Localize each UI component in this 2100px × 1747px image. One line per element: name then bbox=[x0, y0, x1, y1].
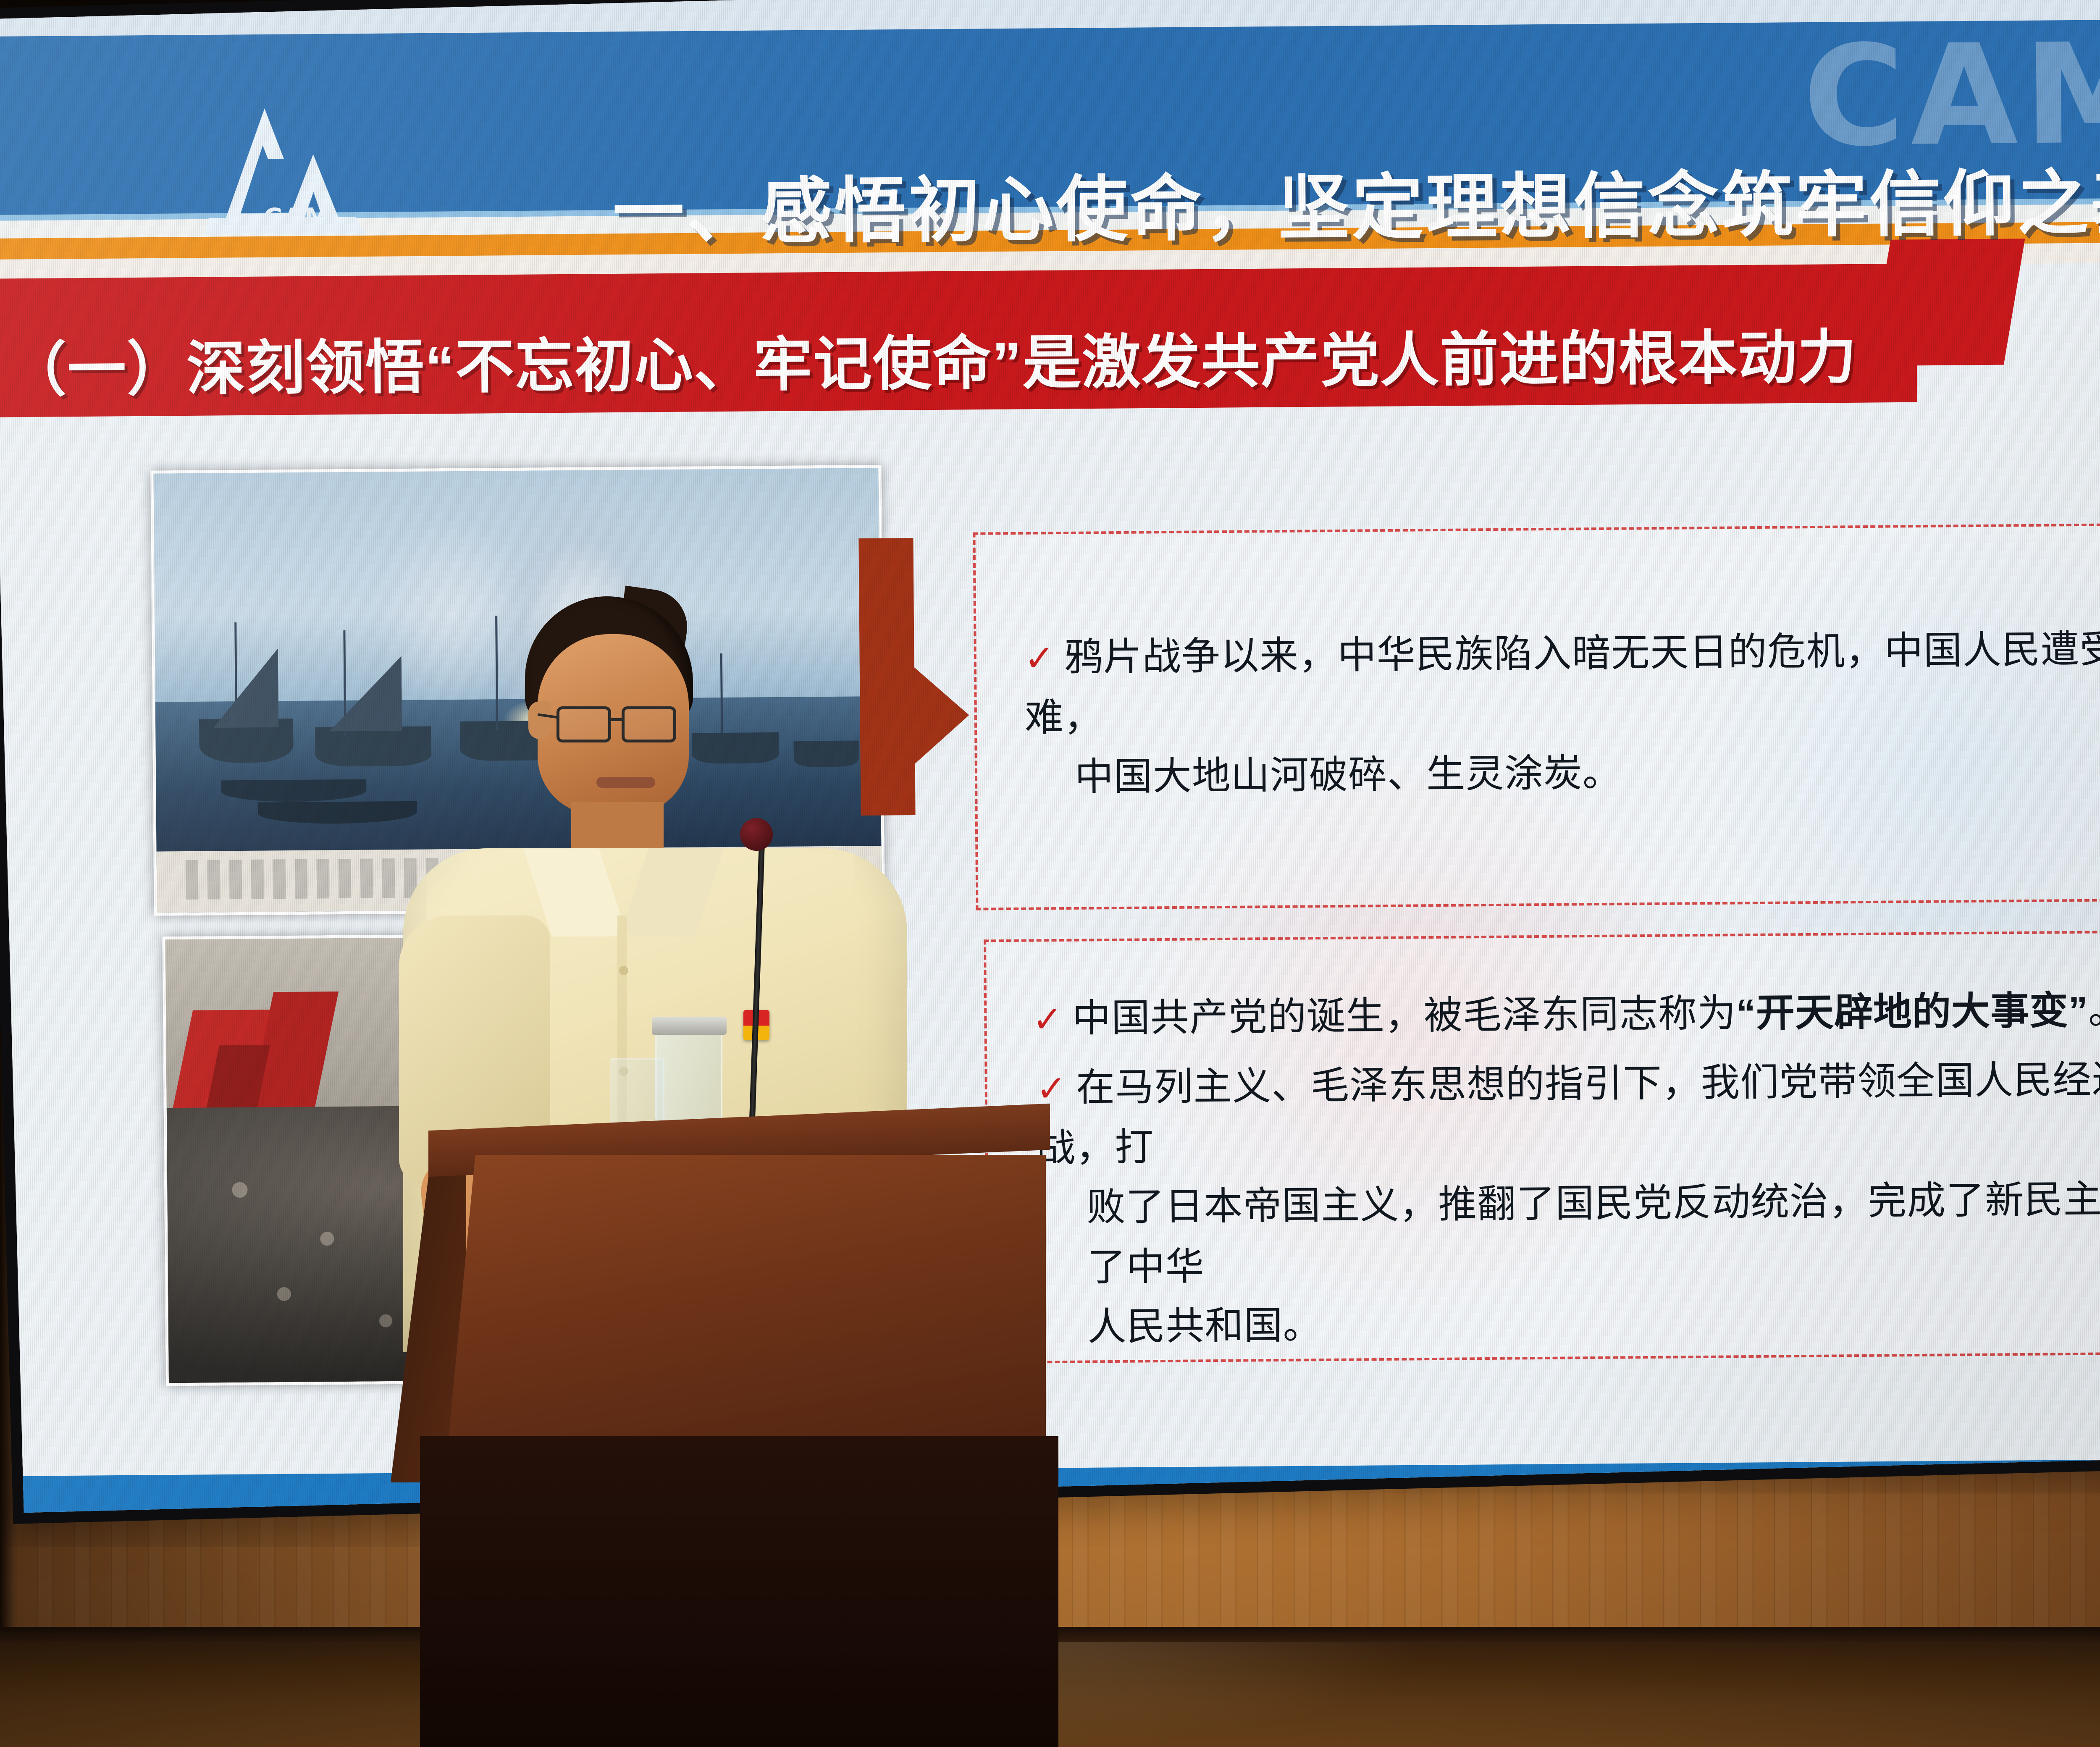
presentation-slide: CAM CAM bbox=[0, 0, 2100, 1513]
bullet-3-line-3: 人民共和国。 bbox=[1038, 1287, 2100, 1358]
bullet-3-line-1: 在马列主义、毛泽东思想的指引下，我们党带领全国人民经过 28 年浴血奋战，打 bbox=[1037, 1056, 2100, 1169]
bullet-3-line-2: 败了日本帝国主义，推翻了国民党反动统治，完成了新民主主义革命，建立了中华 bbox=[1037, 1167, 2100, 1298]
conference-hall-scene: CAM CAM bbox=[0, 0, 2100, 1747]
glasses-lens-right bbox=[622, 706, 676, 742]
bullet-2-prefix: 中国共产党的诞生，被毛泽东同志称为 bbox=[1072, 992, 1737, 1040]
shirt-button bbox=[619, 966, 628, 975]
mouth bbox=[596, 777, 655, 788]
led-screen: CAM CAM bbox=[0, 0, 2100, 1513]
slide-subtitle: （一）深刻领悟“不忘初心、牢记使命”是激发共产党人前进的根本动力 bbox=[7, 308, 2100, 408]
water-glass bbox=[655, 1025, 722, 1123]
slide-title: 一、感悟初心使命，坚定理想信念筑牢信仰之基 bbox=[612, 144, 2100, 258]
ear bbox=[528, 701, 551, 739]
podium-front-panel bbox=[445, 1155, 1046, 1474]
podium-base-shadow bbox=[420, 1436, 1058, 1747]
bullet-2-suffix: 。 bbox=[2088, 989, 2100, 1032]
bullet-1-line-2: 中国大地山河破碎、生灵涂炭。 bbox=[1025, 737, 2100, 808]
glasses-bridge bbox=[610, 718, 623, 721]
bullet-item-3: ✓在马列主义、毛泽东思想的指引下，我们党带领全国人民经过 28 年浴血奋战，打 … bbox=[1036, 1048, 2100, 1358]
bullet-2-highlight: “开天辟地的大事变” bbox=[1736, 989, 2089, 1035]
water-glass-lid bbox=[652, 1017, 727, 1035]
bullet-item-2: ✓中国共产党的诞生，被毛泽东同志称为“开天辟地的大事变”。 bbox=[1032, 978, 2100, 1049]
led-screen-frame: CAM CAM bbox=[0, 0, 2100, 1524]
microphone-icon bbox=[740, 818, 773, 851]
glasses-lens-left bbox=[556, 706, 611, 742]
cam-logo: CAM bbox=[157, 91, 394, 252]
bullet-1-line-1: 鸦片战争以来，中华民族陷入暗无天日的危机，中国人民遭受前所未有的苦难， bbox=[1024, 626, 2100, 739]
svg-text:CAM: CAM bbox=[263, 202, 331, 233]
bullet-item-1: ✓鸦片战争以来，中华民族陷入暗无天日的危机，中国人民遭受前所未有的苦难， 中国大… bbox=[1024, 617, 2100, 808]
